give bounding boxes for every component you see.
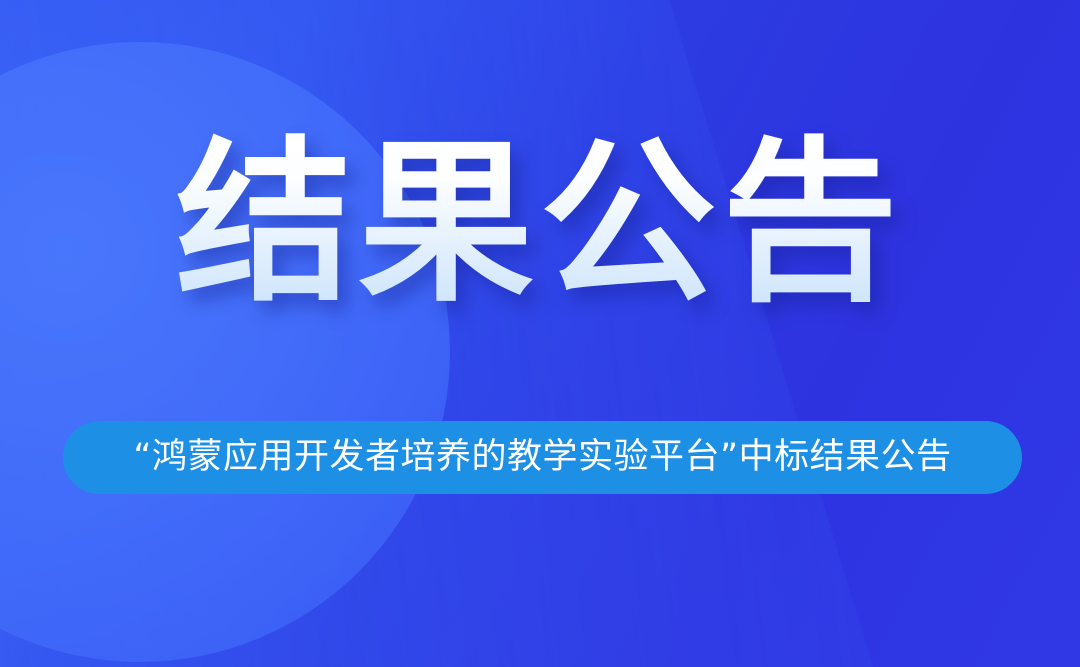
banner-content: 结果公告 “鸿蒙应用开发者培养的教学实验平台”中标结果公告 — [0, 0, 1080, 667]
subtitle-text: “鸿蒙应用开发者培养的教学实验平台”中标结果公告 — [133, 440, 951, 475]
announcement-banner: 结果公告 “鸿蒙应用开发者培养的教学实验平台”中标结果公告 — [0, 0, 1080, 667]
subtitle-pill: “鸿蒙应用开发者培养的教学实验平台”中标结果公告 — [63, 421, 1022, 494]
headline-title: 结果公告 — [0, 132, 1080, 317]
